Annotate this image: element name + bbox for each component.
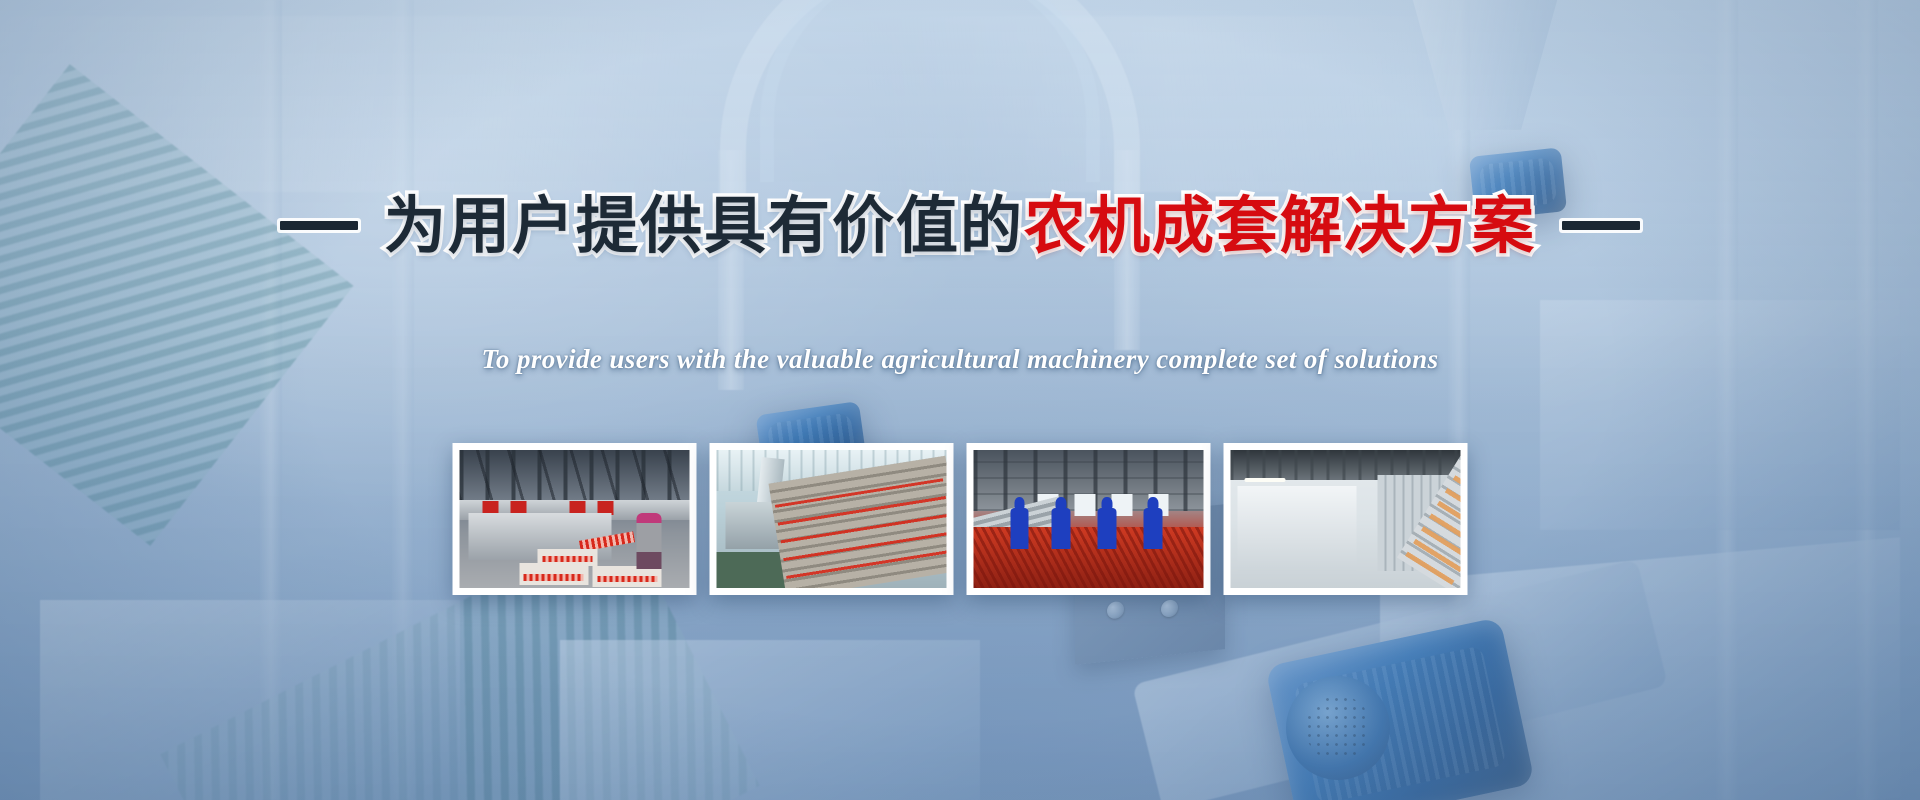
banner-content: 为用户提供具有价值的农机成套解决方案 To provide users with… [0,0,1920,800]
t4-lamp [1244,478,1285,482]
thumbnail-3-image [974,450,1204,588]
hero-banner: 为用户提供具有价值的农机成套解决方案 To provide users with… [0,0,1920,800]
headline-dark-text: 为用户提供具有价值的 [384,192,1024,261]
headline-trail-dash [1562,221,1640,230]
thumbnail-2[interactable] [710,443,954,595]
t3-chili-pile [974,527,1204,588]
t1-tray-3-berries [542,556,593,562]
subheadline: To provide users with the valuable agric… [0,344,1920,375]
t4-dryer [1237,486,1357,572]
t3-worker-1 [1010,508,1028,549]
headline: 为用户提供具有价值的农机成套解决方案 [0,196,1920,258]
thumbnail-3[interactable] [967,443,1211,595]
thumbnail-2-image [717,450,947,588]
thumbnail-1-image [460,450,690,588]
t1-tray-2-berries [598,576,658,583]
t1-worker [637,513,662,568]
thumbnail-4[interactable] [1224,443,1468,595]
t3-worker-3 [1098,508,1116,549]
thumbnail-strip [453,443,1468,595]
thumbnail-4-image [1231,450,1461,588]
t1-tray-1-berries [524,574,584,581]
headline-red-text: 农机成套解决方案 [1024,192,1536,261]
headline-lead-dash [280,221,358,230]
t3-worker-4 [1144,508,1162,549]
t3-window-2 [1075,494,1096,516]
thumbnail-1[interactable] [453,443,697,595]
t1-beams [460,450,690,502]
t3-worker-2 [1052,508,1070,549]
